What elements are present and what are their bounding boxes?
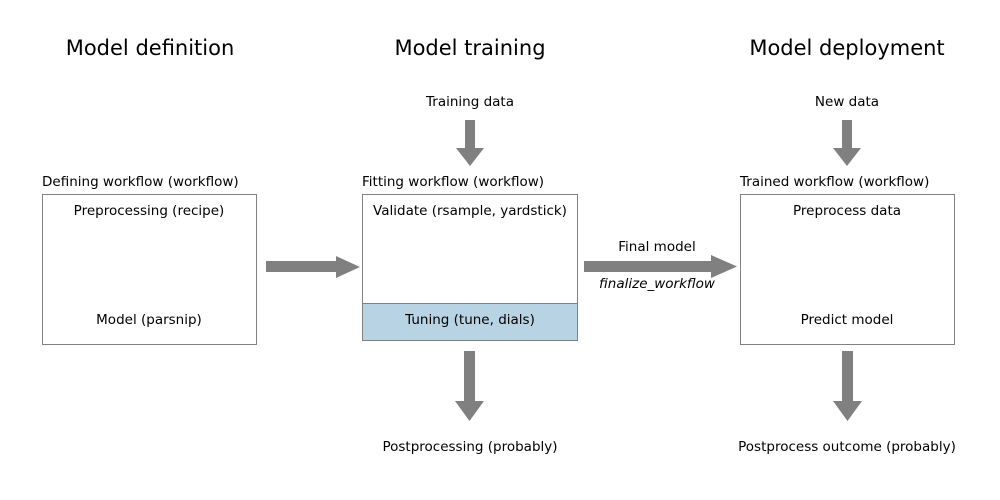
defining-workflow-model-label: Model (parsnip) — [96, 314, 202, 328]
arrow-predict-to-postprocess-outcome — [833, 351, 862, 421]
arrow-definition-to-training — [266, 256, 360, 278]
diagram-canvas: Model definition Model training Model de… — [0, 0, 1000, 500]
arrow-final-model — [584, 255, 737, 278]
defining-workflow-preprocessing-label: Preprocessing (recipe) — [74, 205, 225, 219]
box-caption-defining-workflow: Defining workflow (workflow) — [42, 176, 239, 190]
trained-workflow-preprocess-label: Preprocess data — [793, 205, 901, 219]
output-label-postprocessing: Postprocessing (probably) — [382, 441, 557, 455]
box-caption-trained-workflow: Trained workflow (workflow) — [740, 176, 929, 190]
connector-label-final-model: Final model — [618, 241, 695, 255]
column-title-model-definition: Model definition — [66, 38, 235, 59]
fitting-workflow-tuning-label: Tuning (tune, dials) — [405, 314, 535, 328]
trained-workflow-predict-label: Predict model — [801, 314, 894, 328]
arrow-tuning-to-postprocessing — [455, 351, 484, 421]
fitting-workflow-validate-label: Validate (rsample, yardstick) — [373, 205, 567, 219]
input-label-new-data: New data — [815, 96, 879, 110]
connector-label-finalize-workflow: finalize_workflow — [599, 278, 715, 292]
output-label-postprocess-outcome: Postprocess outcome (probably) — [738, 441, 956, 455]
column-title-model-deployment: Model deployment — [749, 38, 944, 59]
arrow-new-data-down — [833, 120, 861, 166]
box-caption-fitting-workflow: Fitting workflow (workflow) — [362, 176, 544, 190]
column-title-model-training: Model training — [394, 38, 545, 59]
input-label-training-data: Training data — [426, 96, 514, 110]
arrow-training-data-down — [456, 120, 484, 166]
